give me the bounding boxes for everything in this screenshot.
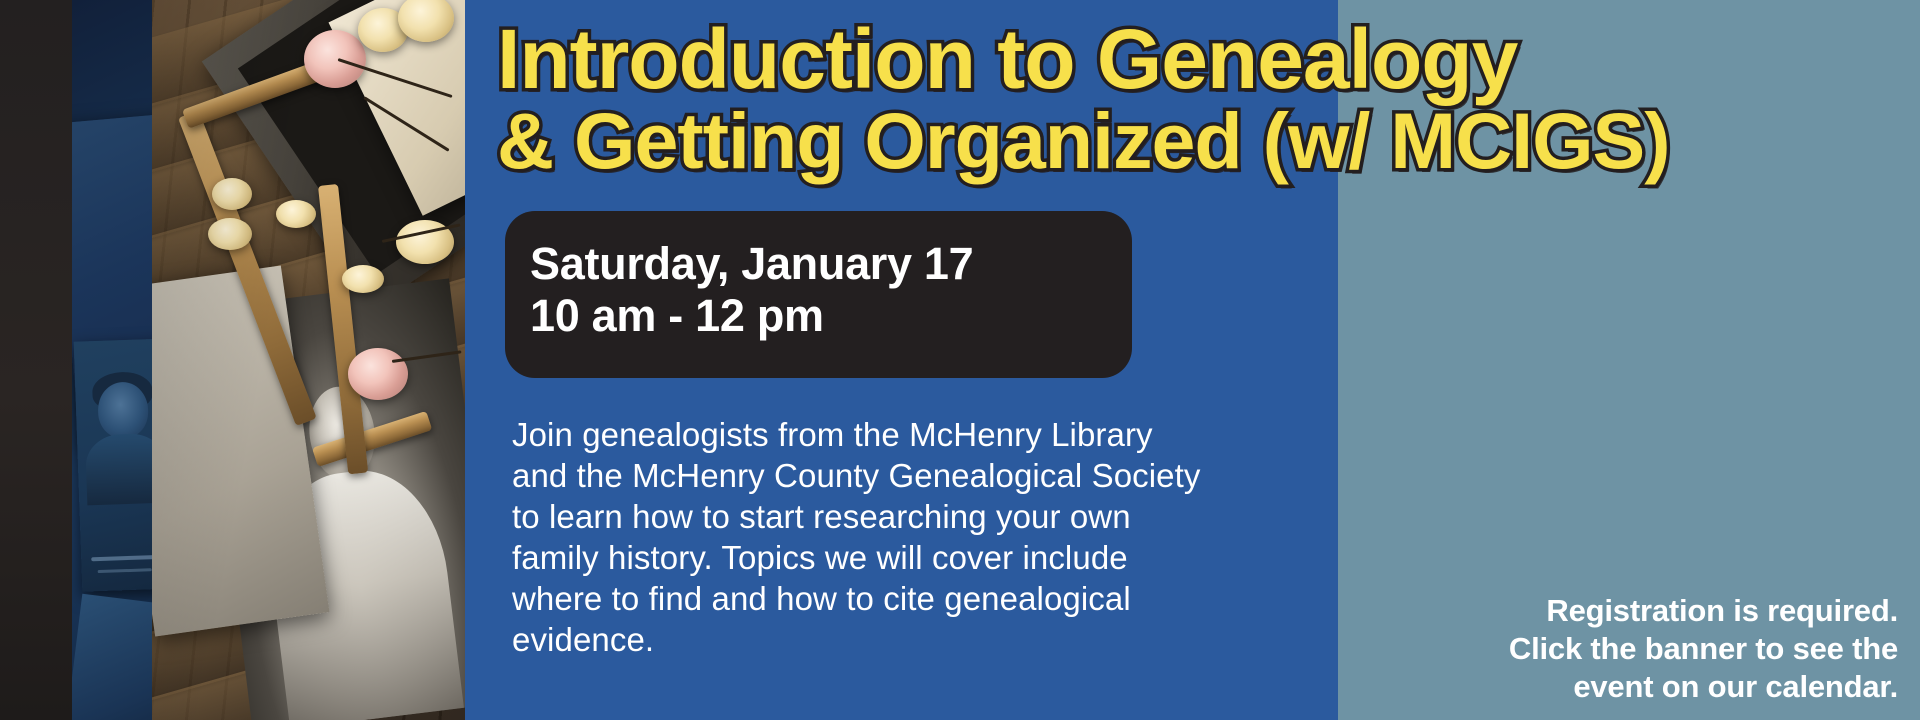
event-description: Join genealogists from the McHenry Libra… [512,415,1202,660]
photo-frames-and-roses [152,0,465,720]
dried-rose-petal [212,178,252,210]
registration-note-line-2: Click the banner to see the [1278,630,1898,668]
dried-rose-petal [342,265,384,293]
vintage-blue-booklet [72,594,162,720]
title-line-1: Introduction to Genealogy [497,18,1897,100]
event-datetime-chip: Saturday, January 17 10 am - 12 pm [505,211,1132,378]
registration-note-line-1: Registration is required. [1278,592,1898,630]
title-line-2: & Getting Organized (w/ MCIGS) [497,102,1897,179]
vintage-portrait-blue [74,338,162,591]
event-time: 10 am - 12 pm [530,290,1132,342]
dried-rose [348,348,408,400]
event-banner[interactable]: Introduction to Genealogy & Getting Orga… [0,0,1920,720]
photo-blue-tinted-section [72,0,162,720]
portrait-shoulders [85,433,162,506]
event-date: Saturday, January 17 [530,238,1132,290]
registration-note-line-3: event on our calendar. [1278,668,1898,706]
dried-rose-petal [276,200,316,228]
genealogy-photo-collage [0,0,465,720]
dried-rose [304,30,366,88]
banner-title: Introduction to Genealogy & Getting Orga… [497,18,1897,180]
dried-rose-petal [208,218,252,250]
portrait-caption-line-2 [98,568,152,573]
photo-dark-edge [0,0,72,720]
registration-note: Registration is required. Click the bann… [1278,592,1898,706]
